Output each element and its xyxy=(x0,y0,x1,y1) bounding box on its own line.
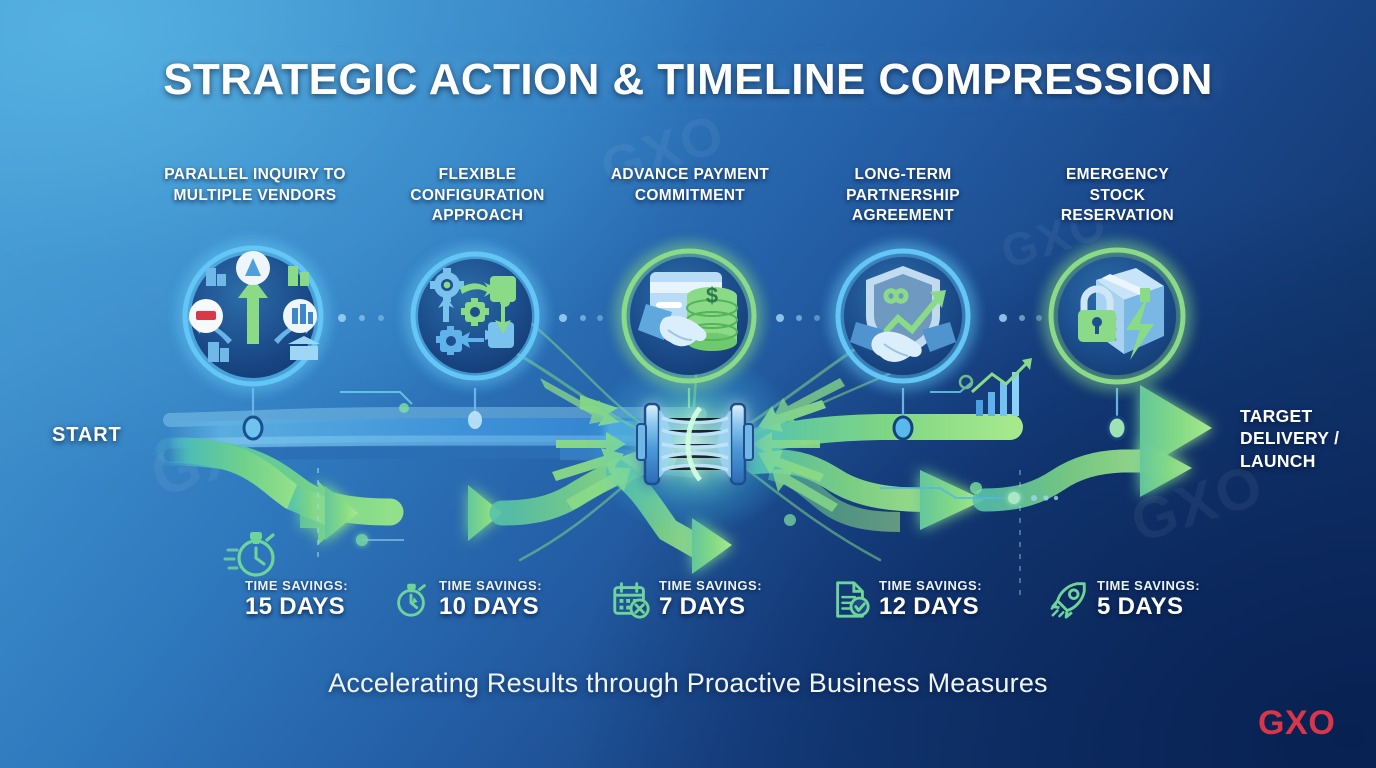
time-savings-caption: TIME SAVINGS: xyxy=(1097,579,1200,592)
time-savings-long-term-partnership: TIME SAVINGS: 12 DAYS xyxy=(830,578,982,620)
infographic-canvas: GXO GXO GXO GXO xyxy=(0,0,1376,768)
node-circle-parallel-inquiry[interactable] xyxy=(185,248,321,384)
stopwatch-icon xyxy=(222,526,284,582)
brand-logo-gxo: GXO xyxy=(1258,704,1335,743)
time-savings-caption: TIME SAVINGS: xyxy=(659,579,762,592)
node-circle-long-term-partnership[interactable] xyxy=(838,251,968,381)
subtitle: Accelerating Results through Proactive B… xyxy=(0,668,1376,699)
time-savings-caption: TIME SAVINGS: xyxy=(439,579,542,592)
time-savings-value: 7 DAYS xyxy=(659,595,762,619)
time-savings-value: 5 DAYS xyxy=(1097,595,1200,619)
time-savings-flexible-config: TIME SAVINGS: 10 DAYS xyxy=(390,578,542,620)
target-delivery-label: TARGET DELIVERY / LAUNCH xyxy=(1240,405,1368,472)
time-savings-parallel-inquiry: TIME SAVINGS: 15 DAYS xyxy=(196,578,348,620)
rocket-icon xyxy=(1048,578,1090,620)
start-label: START xyxy=(52,424,122,447)
node-circle-emergency-stock[interactable] xyxy=(1051,250,1183,382)
time-savings-advance-payment: TIME SAVINGS: 7 DAYS xyxy=(610,578,762,620)
time-savings-caption: TIME SAVINGS: xyxy=(879,579,982,592)
svg-text:$: $ xyxy=(706,283,718,308)
time-savings-emergency-stock: TIME SAVINGS: 5 DAYS xyxy=(1048,578,1200,620)
node-circle-flexible-config[interactable] xyxy=(413,254,537,378)
stopwatch-icon xyxy=(390,578,432,620)
time-savings-value: 10 DAYS xyxy=(439,595,542,619)
document-check-icon xyxy=(830,578,872,620)
time-savings-value: 15 DAYS xyxy=(245,595,348,619)
node-circle-advance-payment[interactable]: $ xyxy=(624,251,754,381)
node-circles-layer: $ xyxy=(0,0,1376,768)
time-savings-value: 12 DAYS xyxy=(879,595,982,619)
calendar-cancel-icon xyxy=(610,578,652,620)
